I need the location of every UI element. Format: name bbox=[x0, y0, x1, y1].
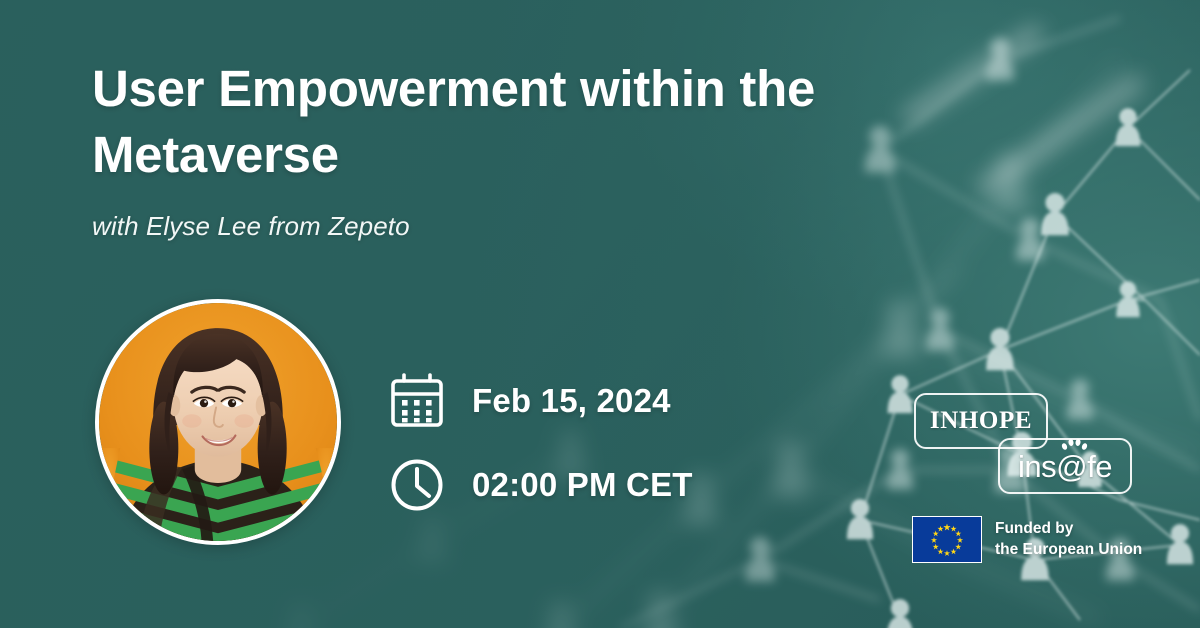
inhope-logo-text: INHOPE bbox=[930, 407, 1032, 435]
event-date-row: Feb 15, 2024 bbox=[388, 372, 693, 430]
clock-icon bbox=[388, 456, 446, 514]
eu-funding-text: Funded by the European Union bbox=[995, 519, 1142, 559]
insafe-logo: ins@fe bbox=[998, 438, 1132, 494]
event-date-text: Feb 15, 2024 bbox=[472, 382, 671, 420]
calendar-icon bbox=[388, 372, 446, 430]
headline-block: User Empowerment within the Metaverse wi… bbox=[92, 56, 852, 242]
eu-funding-block: Funded by the European Union bbox=[912, 516, 1152, 563]
insafe-suffix-text: fe bbox=[1087, 449, 1112, 484]
speaker-subtitle: with Elyse Lee from Zepeto bbox=[92, 211, 852, 242]
paw-print-icon bbox=[1059, 438, 1089, 452]
event-meta: Feb 15, 2024 02:00 PM CET bbox=[388, 372, 693, 514]
logo-group: INHOPE ins@fe bbox=[912, 393, 1152, 563]
partner-logos: INHOPE ins@fe bbox=[912, 393, 1152, 498]
insafe-logo-text: ins@fe bbox=[1018, 451, 1112, 482]
event-time-row: 02:00 PM CET bbox=[388, 456, 693, 514]
eu-flag-icon bbox=[912, 516, 982, 563]
insafe-at-symbol: @ bbox=[1056, 449, 1087, 484]
page-title: User Empowerment within the Metaverse bbox=[92, 56, 852, 189]
speaker-avatar bbox=[95, 299, 341, 545]
event-time-text: 02:00 PM CET bbox=[472, 466, 693, 504]
webinar-promo-banner: User Empowerment within the Metaverse wi… bbox=[0, 0, 1200, 628]
insafe-prefix-text: ins bbox=[1018, 449, 1056, 484]
